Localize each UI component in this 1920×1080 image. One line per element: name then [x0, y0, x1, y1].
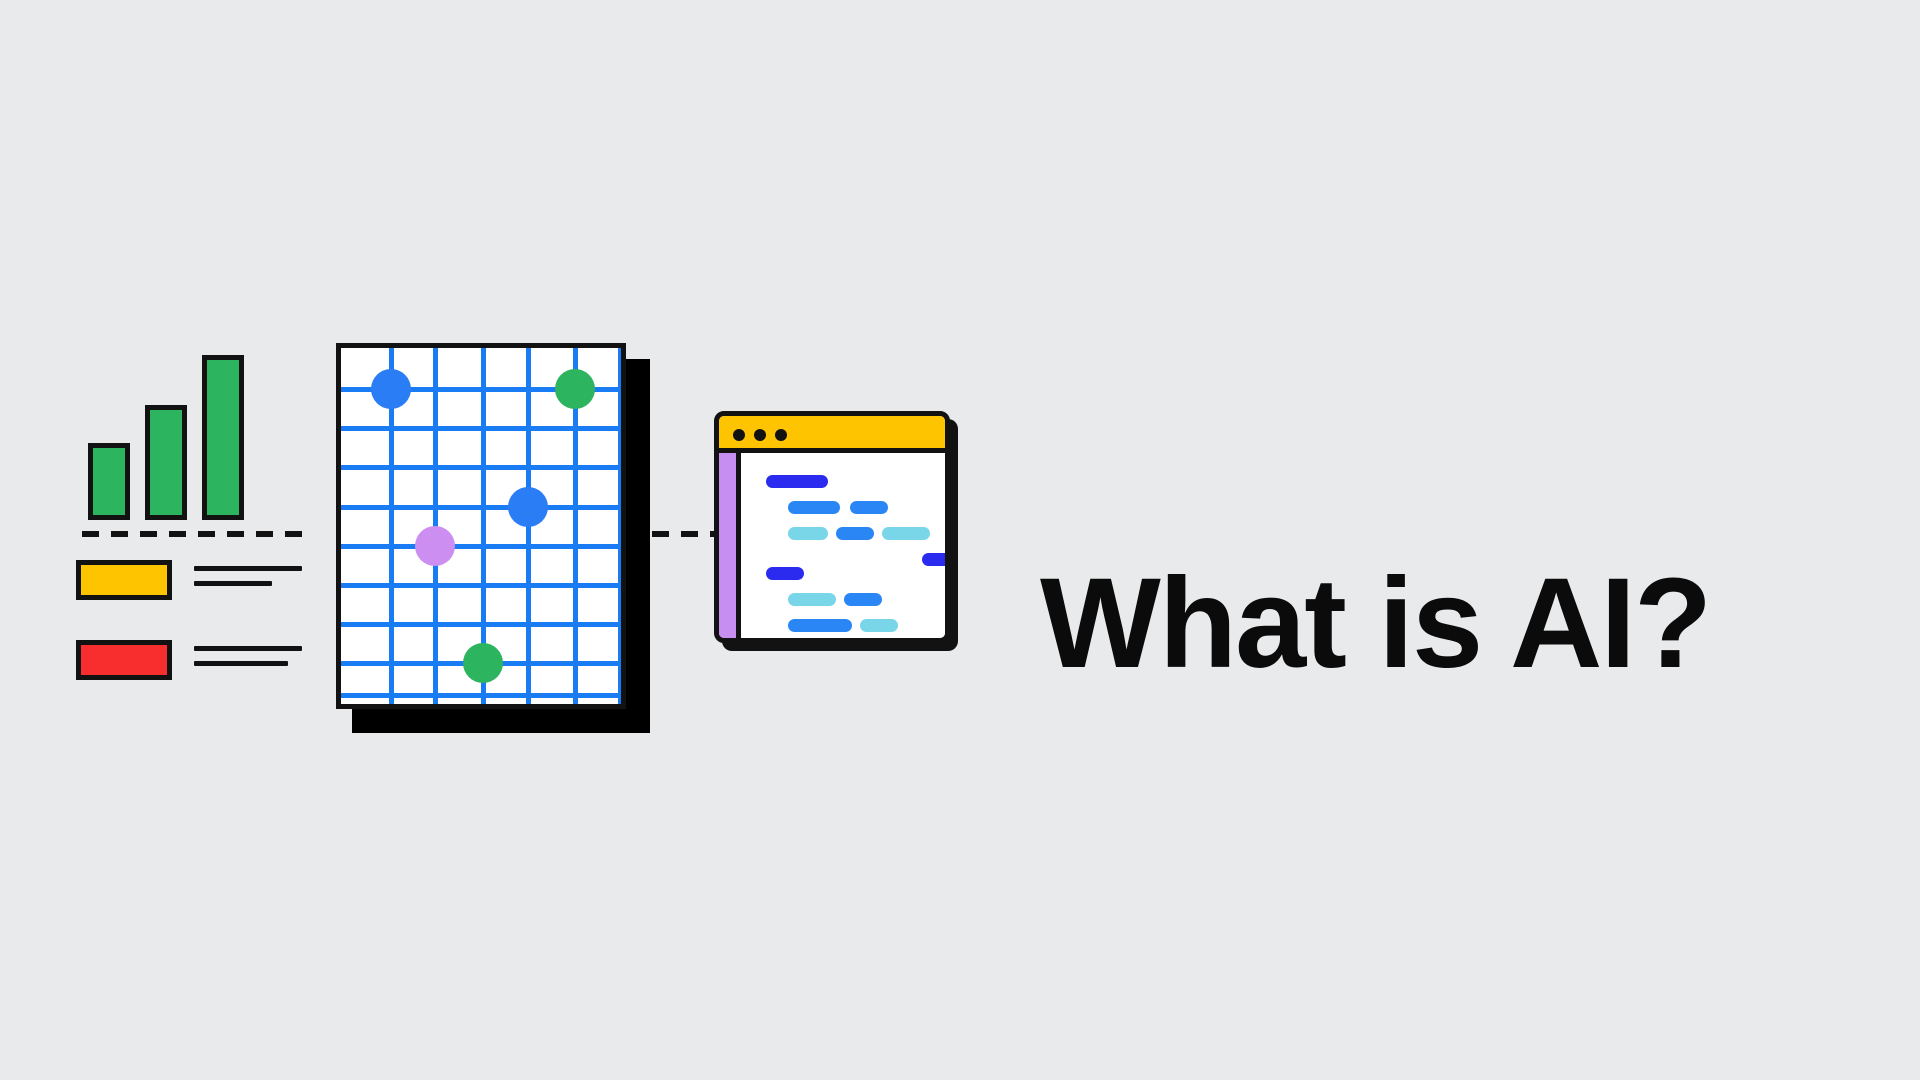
- dot-purple-middle: [415, 526, 455, 566]
- window-minimize-icon[interactable]: [754, 429, 766, 441]
- grid-horizontal-line-5: [341, 544, 621, 549]
- legend-text-line: [194, 646, 302, 651]
- token-11: [788, 619, 852, 632]
- legend: [76, 560, 316, 685]
- grid-horizontal-line-4: [341, 505, 621, 510]
- legend-row: [76, 640, 316, 680]
- legend-text-line: [194, 566, 302, 571]
- bar-chart-bar-1: [88, 443, 130, 520]
- token-5: [836, 527, 874, 540]
- window-sidebar: [719, 453, 741, 638]
- grid-horizontal-line-9: [341, 693, 621, 698]
- legend-text-lines: [194, 646, 304, 676]
- legend-row: [76, 560, 316, 600]
- window-titlebar: [719, 416, 945, 453]
- bar-chart-bar-3: [202, 355, 244, 520]
- grid-horizontal-line-3: [341, 465, 621, 470]
- bar-chart: [80, 330, 310, 520]
- legend-text-lines: [194, 566, 304, 596]
- token-10: [844, 593, 882, 606]
- page-title: What is AI?: [1040, 554, 1710, 695]
- legend-text-line: [194, 581, 272, 586]
- grid-card-surface: [336, 343, 626, 709]
- data-grid-card: [336, 343, 651, 733]
- connector-grid-to-window: [652, 531, 720, 537]
- grid-horizontal-line-7: [341, 622, 621, 627]
- token-4: [788, 527, 828, 540]
- window-close-icon[interactable]: [733, 429, 745, 441]
- legend-text-line: [194, 661, 288, 666]
- dot-blue-top-left: [371, 369, 411, 409]
- grid-horizontal-line-6: [341, 583, 621, 588]
- code-body: [746, 453, 945, 638]
- connector-bars-to-grid: [82, 531, 314, 537]
- legend-swatch-red: [76, 640, 172, 680]
- illustration-canvas: What is AI?: [0, 0, 1920, 1080]
- token-6: [882, 527, 930, 540]
- window-maximize-icon[interactable]: [775, 429, 787, 441]
- token-8: [766, 567, 804, 580]
- dot-green-top-right: [555, 369, 595, 409]
- grid-vertical-line-6: [618, 348, 623, 704]
- dot-blue-middle: [508, 487, 548, 527]
- code-editor-window: [714, 411, 950, 643]
- dot-green-bottom: [463, 643, 503, 683]
- bar-chart-bar-2: [145, 405, 187, 520]
- token-9: [788, 593, 836, 606]
- token-2: [788, 501, 840, 514]
- legend-swatch-yellow: [76, 560, 172, 600]
- grid-horizontal-line-2: [341, 426, 621, 431]
- token-12: [860, 619, 898, 632]
- token-1: [766, 475, 828, 488]
- token-7: [922, 553, 950, 566]
- token-3: [850, 501, 888, 514]
